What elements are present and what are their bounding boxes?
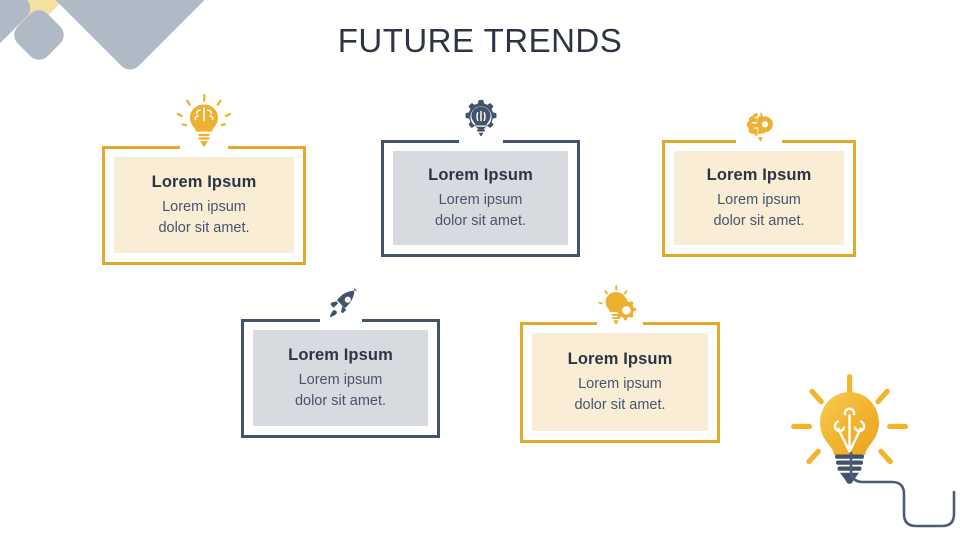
card-inner-panel: Lorem Ipsum Lorem ipsum dolor sit amet.: [532, 333, 708, 431]
card-body: Lorem ipsum dolor sit amet.: [574, 374, 665, 415]
trend-card-1[interactable]: Lorem Ipsum Lorem ipsum dolor sit amet.: [102, 146, 306, 265]
trend-card-3[interactable]: Lorem Ipsum Lorem ipsum dolor sit amet.: [662, 140, 856, 257]
card-inner-panel: Lorem Ipsum Lorem ipsum dolor sit amet.: [253, 330, 428, 426]
gear-lightbulb-icon: [453, 91, 509, 147]
trend-card-2[interactable]: Lorem Ipsum Lorem ipsum dolor sit amet.: [381, 140, 580, 257]
card-body: Lorem ipsum dolor sit amet.: [295, 370, 386, 411]
card-title: Lorem Ipsum: [152, 172, 257, 193]
trend-card-5[interactable]: Lorem Ipsum Lorem ipsum dolor sit amet.: [520, 322, 720, 443]
brain-lightbulb-icon: [176, 94, 232, 150]
card-title: Lorem Ipsum: [428, 165, 533, 186]
card-body: Lorem ipsum dolor sit amet.: [435, 190, 526, 231]
brain-gear-icon: [731, 96, 787, 152]
card-inner-panel: Lorem Ipsum Lorem ipsum dolor sit amet.: [674, 151, 844, 245]
rocket-icon: [313, 275, 369, 331]
card-inner-panel: Lorem Ipsum Lorem ipsum dolor sit amet.: [114, 157, 294, 253]
lightbulb-cord: [830, 452, 960, 540]
card-inner-panel: Lorem Ipsum Lorem ipsum dolor sit amet.: [393, 151, 568, 245]
card-body: Lorem ipsum dolor sit amet.: [713, 190, 804, 231]
card-title: Lorem Ipsum: [568, 349, 673, 370]
card-title: Lorem Ipsum: [288, 345, 393, 366]
page-title: FUTURE TRENDS: [0, 22, 960, 60]
trend-card-4[interactable]: Lorem Ipsum Lorem ipsum dolor sit amet.: [241, 319, 440, 438]
slide-canvas: FUTURE TRENDS Lorem Ipsum Lorem ipsum do…: [0, 0, 960, 540]
card-title: Lorem Ipsum: [707, 165, 812, 186]
card-body: Lorem ipsum dolor sit amet.: [158, 197, 249, 238]
lightbulb-gear-icon: [592, 276, 648, 332]
